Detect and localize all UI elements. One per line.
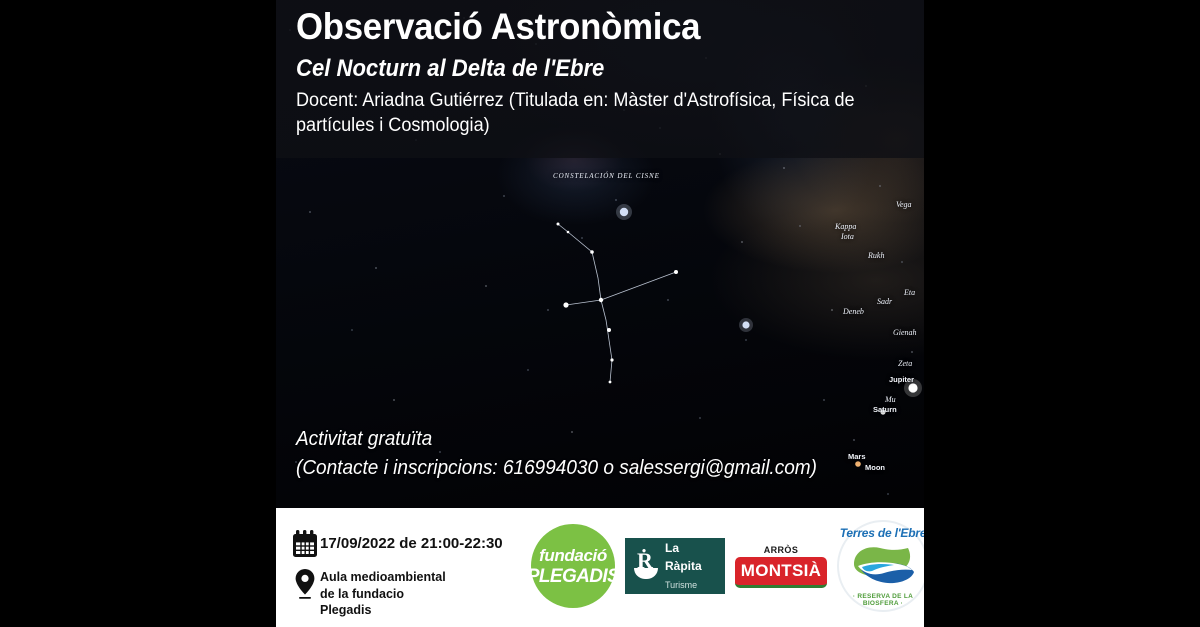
star-label-iota: Iota xyxy=(841,232,854,241)
location-line-1: Aula medioambiental xyxy=(320,570,446,584)
contact-block: Activitat gratuïta (Contacte i inscripci… xyxy=(296,425,844,483)
logo-terres-de-lebre[interactable]: Terres de l'Ebre · RESERVA DE LA BIOSFER… xyxy=(837,520,924,612)
rapita-wordmark: La Ràpita Turisme xyxy=(665,539,702,593)
plegadis-line-2: PLEGADIS xyxy=(527,567,619,586)
poster-canvas: CONSTELACIÓN DEL CISNE Vega Kappa Iota R… xyxy=(276,0,924,627)
montsia-wordmark: MONTSIÀ xyxy=(735,557,827,588)
star-label-deneb: Deneb xyxy=(843,307,864,316)
location-line-2: de la fundacio xyxy=(320,587,404,601)
logo-la-rapita-turisme[interactable]: Ṙ La Ràpita Turisme xyxy=(625,538,725,594)
title-band: Observació Astronòmica Cel Nocturn al De… xyxy=(276,0,924,158)
planet-label-jupiter: Jupiter xyxy=(889,375,914,384)
contact-text[interactable]: (Contacte i inscripcions: 616994030 o sa… xyxy=(296,454,817,483)
rapita-r-mark: Ṙ xyxy=(633,549,659,583)
constellation-title: CONSTELACIÓN DEL CISNE xyxy=(553,172,660,180)
planet-label-saturn: Saturn xyxy=(873,405,897,414)
free-activity-text: Activitat gratuïta xyxy=(296,425,817,454)
star-label-zeta: Zeta xyxy=(898,359,912,368)
page-title: Observació Astronòmica xyxy=(296,6,700,48)
star-label-vega: Vega xyxy=(896,200,912,209)
page-subtitle: Cel Nocturn al Delta de l'Ebre xyxy=(296,55,604,83)
presenter-credits: Docent: Ariadna Gutiérrez (Titulada en: … xyxy=(296,88,885,139)
star-label-kappa: Kappa xyxy=(835,222,856,231)
star-label-sadr: Sadr xyxy=(877,297,892,306)
planet-label-mars: Mars xyxy=(848,452,866,461)
event-location-row: Aula medioambiental de la fundacio Plega… xyxy=(290,568,503,619)
star-label-mu: Mu xyxy=(885,395,896,404)
event-date: 17/09/2022 de 21:00-22:30 xyxy=(320,530,503,552)
plegadis-line-1: fundació xyxy=(539,547,607,564)
terres-bottom-text: · RESERVA DE LA BIOSFERA · xyxy=(837,593,924,607)
logo-fundacio-plegadis[interactable]: fundació PLEGADIS xyxy=(531,524,615,608)
rapita-line-1: La xyxy=(665,541,679,555)
star-label-eta: Eta xyxy=(904,288,915,297)
event-location: Aula medioambiental de la fundacio Plega… xyxy=(320,568,446,619)
terres-top-text: Terres de l'Ebre xyxy=(837,526,924,540)
location-line-3: Plegadis xyxy=(320,603,371,617)
logo-arros-montsia[interactable]: ARRÒS MONTSIÀ xyxy=(735,545,827,588)
montsia-top-label: ARRÒS xyxy=(735,545,827,555)
star-label-rukh: Rukh xyxy=(868,251,884,260)
sponsor-logos: fundació PLEGADIS Ṙ La Ràpita Turisme AR… xyxy=(531,520,924,612)
star-label-gienah: Gienah xyxy=(893,328,917,337)
terres-emblem xyxy=(850,542,916,595)
rapita-bowl-shape xyxy=(634,568,658,579)
event-info: 17/09/2022 de 21:00-22:30 Aula medioambi… xyxy=(290,530,503,627)
footer-bar: 17/09/2022 de 21:00-22:30 Aula medioambi… xyxy=(276,508,924,627)
event-date-row: 17/09/2022 de 21:00-22:30 xyxy=(290,530,503,558)
calendar-icon xyxy=(290,530,320,558)
rapita-line-2: Ràpita xyxy=(665,559,702,573)
map-pin-icon xyxy=(290,568,320,600)
rapita-line-3: Turisme xyxy=(665,580,697,590)
planet-label-moon: Moon xyxy=(865,463,885,472)
